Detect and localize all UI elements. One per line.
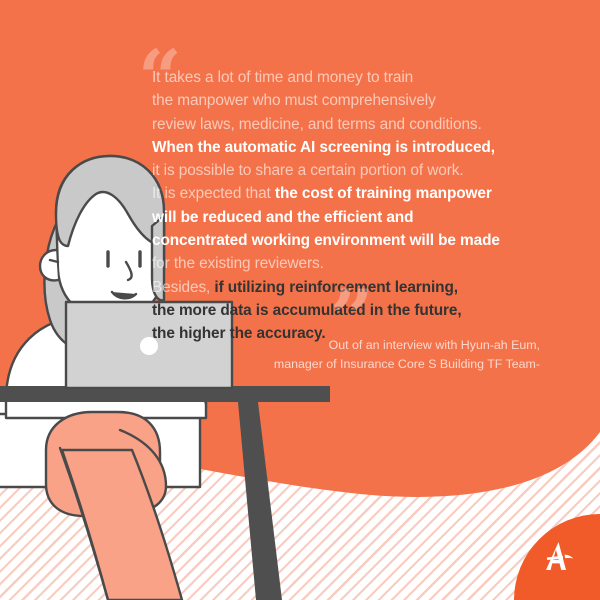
quote-segment: it is possible to share a certain portio… — [152, 162, 464, 179]
quote-segment: will be reduced and the efficient and — [152, 209, 413, 226]
quote-line: When the automatic AI screening is intro… — [152, 136, 552, 159]
quote-card: “ It takes a lot of time and money to tr… — [0, 0, 600, 600]
quote-line: It is expected that the cost of training… — [152, 182, 552, 205]
quote-segment: It takes a lot of time and money to trai… — [152, 69, 413, 86]
quote-segment: review laws, medicine, and terms and con… — [152, 116, 482, 133]
quote-segment: for the existing reviewers. — [152, 255, 324, 272]
quote-segment: Besides, — [152, 279, 214, 296]
quote-segment: the cost of training manpower — [275, 185, 492, 202]
quote-line: the manpower who must comprehensively — [152, 89, 552, 112]
quote-line: review laws, medicine, and terms and con… — [152, 113, 552, 136]
quote-segment: the manpower who must comprehensively — [152, 92, 436, 109]
quote-line: concentrated working environment will be… — [152, 229, 552, 252]
quote-segment: When the automatic AI screening is intro… — [152, 139, 495, 156]
quote-segment: concentrated working environment will be… — [152, 232, 500, 249]
attribution-line-2: manager of Insurance Core S Building TF … — [120, 355, 540, 374]
quote-segment: the more data is accumulated in the futu… — [152, 302, 462, 319]
attribution-line-1: Out of an interview with Hyun-ah Eum, — [120, 336, 540, 355]
attribution: Out of an interview with Hyun-ah Eum, ma… — [120, 336, 540, 374]
quote-line: it is possible to share a certain portio… — [152, 159, 552, 182]
brand-logo — [514, 514, 600, 600]
quote-line: It takes a lot of time and money to trai… — [152, 66, 552, 89]
quote-segment: It is expected that — [152, 185, 275, 202]
quote-line: will be reduced and the efficient and — [152, 206, 552, 229]
